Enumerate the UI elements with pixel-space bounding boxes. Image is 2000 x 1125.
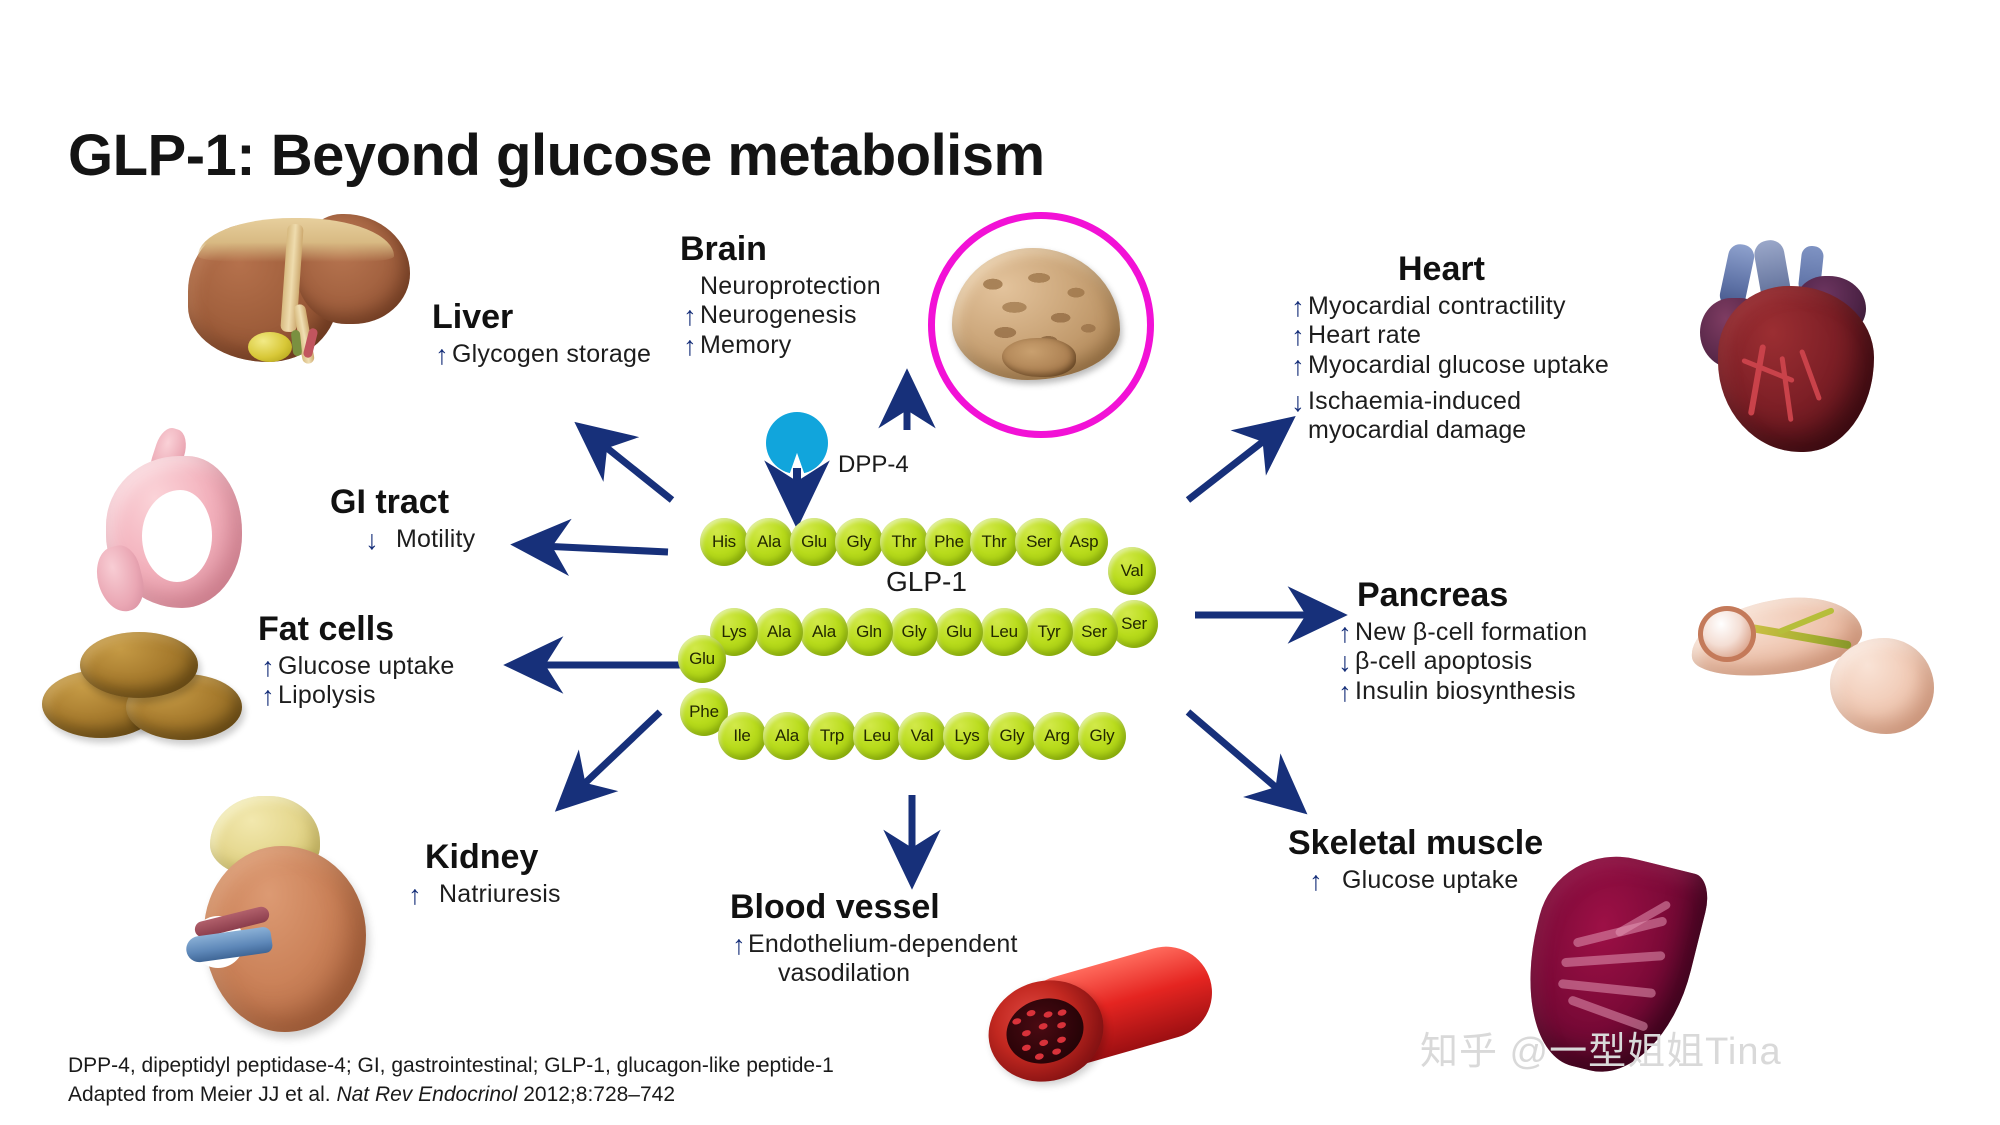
- up-arrow-icon: ↑: [405, 881, 425, 911]
- arrow-to-liver: [582, 428, 672, 500]
- up-arrow-icon: ↑: [680, 332, 700, 362]
- pancreas-cross-section: [1698, 606, 1756, 662]
- amino-acid-ala: Ala: [800, 608, 848, 656]
- pancreas-title: Pancreas: [1357, 578, 1587, 614]
- footnote-journal-name: Nat Rev Endocrinol: [336, 1083, 517, 1106]
- watermark: 知乎 @一型姐姐Tina: [1420, 1020, 1782, 1075]
- fat-cells-label-block: Fat cells ↑ Glucose uptake ↑ Lipolysis: [258, 612, 455, 711]
- up-arrow-icon: ↑: [730, 931, 748, 961]
- amino-acid-ala: Ala: [745, 518, 793, 566]
- stomach-illustration: [88, 428, 260, 616]
- amino-acid-asp: Asp: [1060, 518, 1108, 566]
- heart-effect-row: ↑ Myocardial contractility: [1288, 292, 1609, 322]
- liver-illustration: [188, 208, 410, 366]
- heart-effects: ↑ Myocardial contractility ↑ Heart rate …: [1288, 292, 1609, 446]
- kidney-effect-text: Natriuresis: [439, 880, 561, 910]
- skeletal-muscle-effect-text: Glucose uptake: [1342, 866, 1519, 896]
- heart-illustration: [1700, 240, 1890, 455]
- amino-acid-thr: Thr: [970, 518, 1018, 566]
- fat-cells-effects: ↑ Glucose uptake ↑ Lipolysis: [258, 652, 455, 711]
- brain-effect-text: Neuroprotection: [700, 272, 881, 302]
- gallbladder: [248, 332, 292, 362]
- amino-acid-ser: Ser: [1110, 600, 1158, 648]
- blood-vessel-effect-row: ↑ Endothelium-dependent: [730, 930, 1018, 960]
- fat-cells-effect-row: ↑ Lipolysis: [258, 681, 455, 711]
- footnote-line-1: DPP-4, dipeptidyl peptidase-4; GI, gastr…: [68, 1052, 834, 1081]
- diagram-canvas: GLP-1: Beyond glucose metabolism: [0, 0, 2000, 1125]
- up-arrow-icon: ↑: [432, 341, 452, 371]
- stomach-inner-curve: [142, 490, 212, 582]
- pancreas-illustration: [1690, 588, 1940, 748]
- footnote: DPP-4, dipeptidyl peptidase-4; GI, gastr…: [68, 1052, 834, 1110]
- pancreas-effect-row: ↓ β-cell apoptosis: [1335, 647, 1587, 677]
- heart-effect-row: ↓ Ischaemia-induced: [1288, 387, 1609, 417]
- kidney-illustration: [168, 796, 386, 1034]
- amino-acid-gly: Gly: [890, 608, 938, 656]
- amino-acid-glu: Glu: [678, 635, 726, 683]
- liver-effect-row: ↑ Glycogen storage: [432, 340, 651, 370]
- liver-effect-text: Glycogen storage: [452, 340, 651, 370]
- heart-effect-text: Ischaemia-induced: [1308, 387, 1521, 417]
- down-arrow-icon: ↓: [1288, 388, 1308, 418]
- kidney-label-block: Kidney ↑ Natriuresis: [425, 840, 561, 909]
- footnote-line-2: Adapted from Meier JJ et al. Nat Rev End…: [68, 1081, 834, 1110]
- down-arrow-icon: ↓: [1335, 648, 1355, 678]
- gi-tract-effect-row: ↓ Motility: [362, 525, 475, 555]
- amino-acid-arg: Arg: [1033, 712, 1081, 760]
- amino-acid-glu: Glu: [935, 608, 983, 656]
- blood-vessel-label-block: Blood vessel ↑ Endothelium-dependent vas…: [730, 890, 1018, 988]
- amino-acid-lys: Lys: [943, 712, 991, 760]
- amino-acid-his: His: [700, 518, 748, 566]
- fat-cells-illustration: [42, 632, 242, 752]
- gi-tract-effect-text: Motility: [396, 525, 475, 555]
- fat-cells-effect-text: Glucose uptake: [278, 652, 455, 682]
- blood-vessel-title: Blood vessel: [730, 890, 1018, 926]
- fat-cells-effect-row: ↑ Glucose uptake: [258, 652, 455, 682]
- pancreas-effect-row: ↑ New β-cell formation: [1335, 618, 1587, 648]
- amino-acid-ala: Ala: [763, 712, 811, 760]
- amino-acid-trp: Trp: [808, 712, 856, 760]
- brain-illustration: [952, 248, 1120, 380]
- skeletal-muscle-effects: ↑ Glucose uptake: [1306, 866, 1543, 896]
- fat-cell: [80, 632, 198, 698]
- kidney-title: Kidney: [425, 840, 561, 876]
- pancreas-effect-text: β-cell apoptosis: [1355, 647, 1532, 677]
- blood-vessel-effects: ↑ Endothelium-dependent vasodilation: [730, 930, 1018, 989]
- amino-acid-ser: Ser: [1070, 608, 1118, 656]
- arrow-to-skeletal-muscle: [1188, 712, 1300, 808]
- ventricles: [1718, 286, 1874, 452]
- pancreas-effect-text: New β-cell formation: [1355, 618, 1587, 648]
- up-arrow-icon: ↑: [258, 653, 278, 683]
- pancreas-effect-row: ↑ Insulin biosynthesis: [1335, 677, 1587, 707]
- amino-acid-leu: Leu: [853, 712, 901, 760]
- amino-acid-gly: Gly: [988, 712, 1036, 760]
- brain-effect-text: Memory: [700, 331, 791, 361]
- gi-tract-effects: ↓ Motility: [362, 525, 475, 555]
- pancreas-head: [1830, 638, 1934, 734]
- up-arrow-icon: ↑: [680, 302, 700, 332]
- amino-acid-phe: Phe: [925, 518, 973, 566]
- up-arrow-icon: ↑: [258, 682, 278, 712]
- pancreas-effects: ↑ New β-cell formation ↓ β-cell apoptosi…: [1335, 618, 1587, 707]
- brain-effect-text: Neurogenesis: [700, 301, 857, 331]
- amino-acid-ala: Ala: [755, 608, 803, 656]
- amino-acid-val: Val: [898, 712, 946, 760]
- blood-vessel-effect-continuation: vasodilation: [730, 959, 1018, 988]
- kidney-effects: ↑ Natriuresis: [405, 880, 561, 910]
- up-arrow-icon: ↑: [1288, 352, 1308, 382]
- footnote-citation-suffix: 2012;8:728–742: [517, 1083, 675, 1106]
- up-arrow-icon: ↑: [1288, 322, 1308, 352]
- up-arrow-icon: ↑: [1288, 293, 1308, 323]
- amino-acid-leu: Leu: [980, 608, 1028, 656]
- heart-effect-row: ↑ Heart rate: [1288, 321, 1609, 351]
- amino-acid-glu: Glu: [790, 518, 838, 566]
- heart-effect-text: Myocardial glucose uptake: [1308, 351, 1609, 381]
- kidney-effect-row: ↑ Natriuresis: [405, 880, 561, 910]
- fat-cells-title: Fat cells: [258, 612, 455, 648]
- amino-acid-gly: Gly: [835, 518, 883, 566]
- glp1-label: GLP-1: [886, 566, 967, 598]
- amino-acid-thr: Thr: [880, 518, 928, 566]
- arrow-to-gi-tract: [520, 545, 668, 552]
- skeletal-muscle-label-block: Skeletal muscle ↑ Glucose uptake: [1288, 826, 1543, 895]
- amino-acid-tyr: Tyr: [1025, 608, 1073, 656]
- brain-label-block: Brain Neuroprotection ↑ Neurogenesis ↑ M…: [680, 232, 881, 361]
- skeletal-muscle-effect-row: ↑ Glucose uptake: [1306, 866, 1543, 896]
- up-arrow-icon: ↑: [1335, 619, 1355, 649]
- brain-effect-row: ↑ Neurogenesis: [680, 301, 881, 331]
- heart-effect-text: Heart rate: [1308, 321, 1421, 351]
- arrow-to-heart: [1188, 422, 1288, 500]
- blood-vessel-effect-text: Endothelium-dependent: [748, 930, 1018, 960]
- heart-effect-row: ↑ Myocardial glucose uptake: [1288, 351, 1609, 381]
- liver-label-block: Liver ↑ Glycogen storage: [432, 300, 651, 369]
- footnote-citation-prefix: Adapted from Meier JJ et al.: [68, 1083, 336, 1106]
- brain-title: Brain: [680, 232, 881, 268]
- amino-acid-gly: Gly: [1078, 712, 1126, 760]
- liver-effects: ↑ Glycogen storage: [432, 340, 651, 370]
- gi-tract-title: GI tract: [330, 485, 475, 521]
- heart-effect-text: Myocardial contractility: [1308, 292, 1566, 322]
- liver-title: Liver: [432, 300, 651, 336]
- brain-effect-row: ↑ Memory: [680, 331, 881, 361]
- up-arrow-icon: ↑: [1306, 867, 1326, 897]
- up-arrow-icon: ↑: [1335, 678, 1355, 708]
- skeletal-muscle-title: Skeletal muscle: [1288, 826, 1543, 862]
- arrow-to-kidney: [562, 712, 660, 805]
- fat-cells-effect-text: Lipolysis: [278, 681, 376, 711]
- brain-effects: Neuroprotection ↑ Neurogenesis ↑ Memory: [680, 272, 881, 361]
- pancreas-label-block: Pancreas ↑ New β-cell formation ↓ β-cell…: [1335, 578, 1587, 707]
- amino-acid-val: Val: [1108, 547, 1156, 595]
- dpp4-enzyme-icon: [766, 412, 828, 474]
- dpp4-label: DPP-4: [838, 451, 909, 479]
- amino-acid-ile: Ile: [718, 712, 766, 760]
- heart-effect-continuation: myocardial damage: [1288, 416, 1609, 445]
- down-arrow-icon: ↓: [362, 526, 382, 556]
- heart-label-block: Heart ↑ Myocardial contractility ↑ Heart…: [1288, 252, 1609, 445]
- pancreas-effect-text: Insulin biosynthesis: [1355, 677, 1576, 707]
- page-title: GLP-1: Beyond glucose metabolism: [68, 122, 1045, 189]
- brain-effect-row: Neuroprotection: [680, 272, 881, 302]
- amino-acid-gln: Gln: [845, 608, 893, 656]
- gi-tract-label-block: GI tract ↓ Motility: [330, 485, 475, 554]
- heart-title: Heart: [1398, 252, 1609, 288]
- amino-acid-ser: Ser: [1015, 518, 1063, 566]
